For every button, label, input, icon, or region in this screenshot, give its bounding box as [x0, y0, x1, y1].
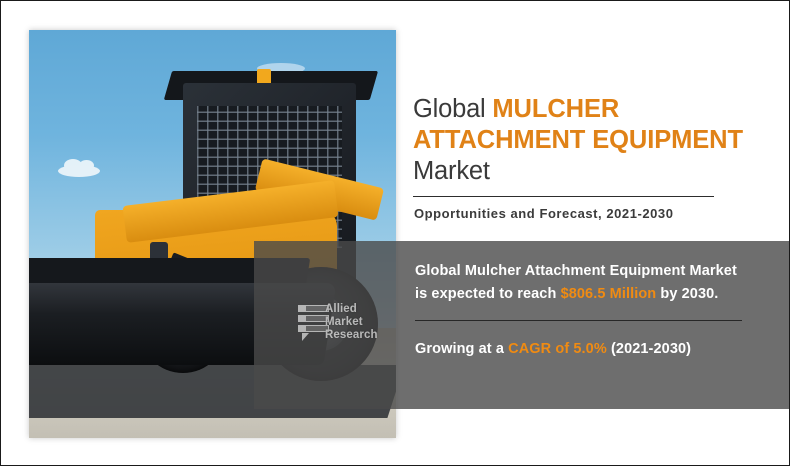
stat-line-2: is expected to reach $806.5 Million by 2… [415, 283, 780, 306]
stat-prefix: is expected to reach [415, 286, 561, 302]
cagr-period: (2021-2030) [607, 341, 691, 357]
headline-normal-text: Global [413, 95, 492, 123]
stat-line-1: Global Mulcher Attachment Equipment Mark… [415, 260, 780, 283]
market-value-statement: Global Mulcher Attachment Equipment Mark… [415, 260, 780, 306]
stat-suffix: by 2030. [656, 286, 718, 302]
headline-strong-text: ATTACHMENT EQUIPMENT [413, 126, 743, 154]
cagr-prefix: Growing at a [415, 341, 508, 357]
stats-panel: Global Mulcher Attachment Equipment Mark… [254, 241, 789, 409]
panel-divider [415, 320, 742, 321]
cagr-figure: CAGR of 5.0% [508, 341, 607, 357]
market-value-figure: $806.5 Million [561, 286, 657, 302]
page-title: Global MULCHER ATTACHMENT EQUIPMENT Mark… [413, 94, 783, 187]
headline-strong-text: MULCHER [492, 95, 619, 123]
headline-line-1: Global MULCHER [413, 94, 783, 125]
subtitle: Opportunities and Forecast, 2021-2030 [414, 206, 674, 221]
headline-line-2: ATTACHMENT EQUIPMENT [413, 125, 783, 156]
cloud-icon [58, 165, 100, 177]
infographic-banner: Global MULCHER ATTACHMENT EQUIPMENT Mark… [0, 0, 790, 466]
headline-line-3: Market [413, 156, 783, 187]
cagr-statement: Growing at a CAGR of 5.0% (2021-2030) [415, 341, 691, 357]
title-divider [413, 196, 714, 197]
